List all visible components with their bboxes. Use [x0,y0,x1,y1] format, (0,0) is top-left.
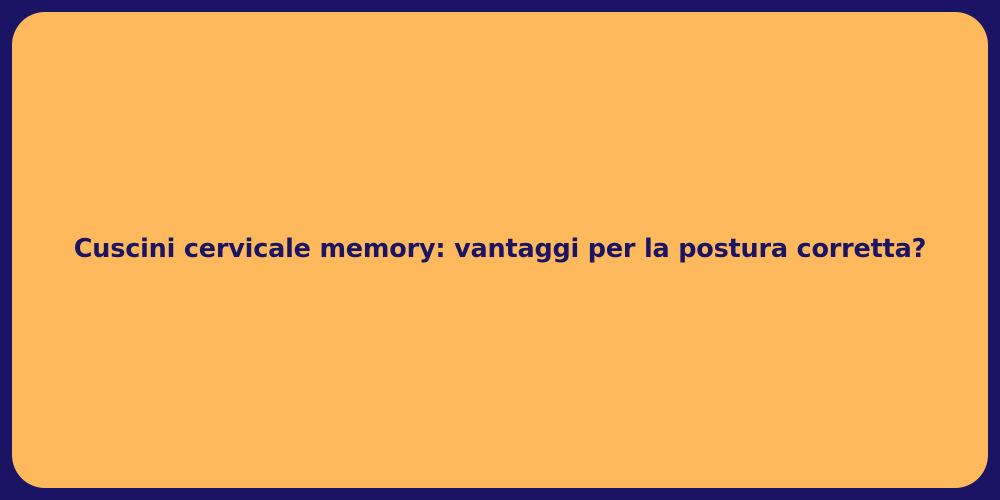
headline-text: Cuscini cervicale memory: vantaggi per l… [46,234,954,266]
card-panel: Cuscini cervicale memory: vantaggi per l… [12,12,988,488]
card-outer-frame: Cuscini cervicale memory: vantaggi per l… [0,0,1000,500]
